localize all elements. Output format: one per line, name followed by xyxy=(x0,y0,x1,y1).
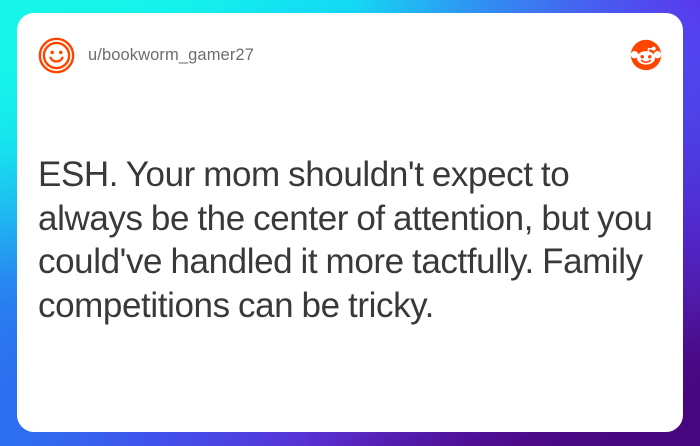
card-header: u/bookworm_gamer27 xyxy=(17,13,683,97)
post-text: ESH. Your mom shouldn't expect to always… xyxy=(38,153,657,327)
username-label: u/bookworm_gamer27 xyxy=(88,46,254,65)
post-card: u/bookworm_gamer27 xyxy=(17,13,683,432)
smiley-face-icon xyxy=(38,37,75,74)
card-body: ESH. Your mom shouldn't expect to always… xyxy=(38,153,657,327)
reddit-post-card-screenshot: u/bookworm_gamer27 xyxy=(0,0,700,446)
reddit-snoo-icon xyxy=(630,39,662,71)
